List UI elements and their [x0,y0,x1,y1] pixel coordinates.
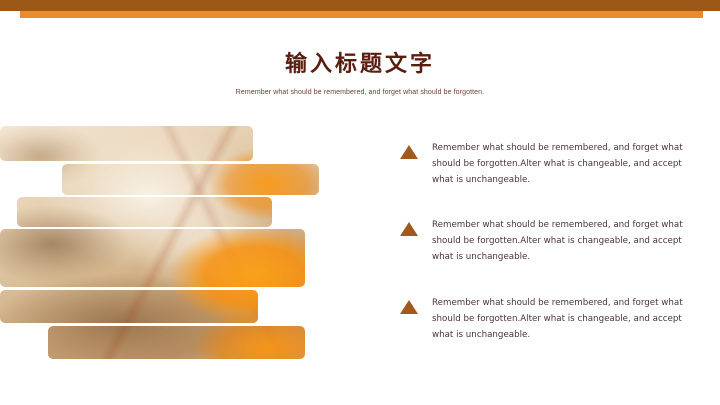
collage-band-2 [62,164,319,195]
list-item: Remember what should be remembered, and … [396,140,696,188]
collage-band-5 [0,290,258,323]
bullet-text: Remember what should be remembered, and … [432,295,696,343]
page-subtitle: Remember what should be remembered, and … [0,89,720,96]
title-block: 输入标题文字 Remember what should be remembere… [0,52,720,96]
autumn-leaves-photo [0,126,253,161]
autumn-leaves-photo [62,164,319,195]
page-title: 输入标题文字 [0,52,720,76]
triangle-up-icon [400,145,418,159]
bullet-text: Remember what should be remembered, and … [432,140,696,188]
autumn-leaves-photo [0,290,258,323]
autumn-leaves-photo [17,197,272,227]
bullet-text: Remember what should be remembered, and … [432,217,696,265]
triangle-up-icon [400,300,418,314]
collage-band-6 [48,326,305,359]
autumn-leaves-photo [0,229,305,287]
collage-band-4 [0,229,305,287]
header-bar-accent [20,11,703,18]
list-item: Remember what should be remembered, and … [396,295,696,343]
header-bar-dark [0,0,720,11]
autumn-leaves-photo [48,326,305,359]
list-item: Remember what should be remembered, and … [396,217,696,265]
collage-band-1 [0,126,253,161]
image-collage [0,126,340,359]
collage-band-3 [17,197,272,227]
bullet-list: Remember what should be remembered, and … [396,140,696,343]
triangle-up-icon [400,222,418,236]
